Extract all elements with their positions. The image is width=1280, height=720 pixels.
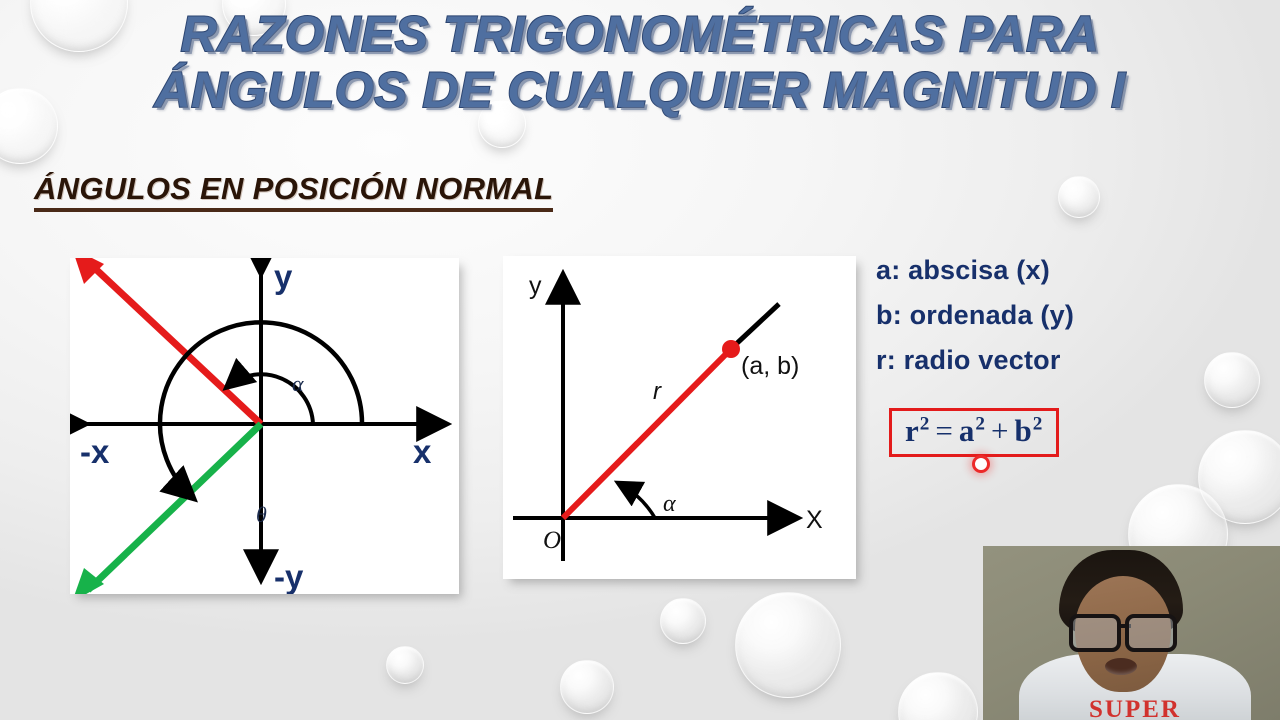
right-diagram-svg: (a, b) r α O y X bbox=[503, 256, 856, 579]
slide-title: RAZONES TRIGONOMÉTRICAS PARA ÁNGULOS DE … bbox=[0, 6, 1280, 118]
bubble-decoration bbox=[560, 660, 614, 714]
diagram-radius-vector: (a, b) r α O y X bbox=[503, 256, 856, 579]
legend-item-radio-vector: r: radio vector bbox=[876, 338, 1074, 383]
label-point-ab: (a, b) bbox=[741, 352, 799, 380]
cursor-pointer-dot bbox=[972, 455, 990, 473]
ray-extension bbox=[734, 304, 779, 346]
formula-a-exp: 2 bbox=[975, 414, 986, 435]
label-alpha: α bbox=[292, 371, 304, 396]
formula-r: r bbox=[905, 413, 920, 448]
glasses-icon bbox=[1067, 614, 1179, 644]
ray-theta bbox=[88, 424, 261, 590]
label-y-negative: -y bbox=[274, 558, 304, 594]
section-heading: ÁNGULOS EN POSICIÓN NORMAL bbox=[34, 171, 553, 212]
formula-plus: + bbox=[986, 413, 1014, 448]
legend-item-ordenada: b: ordenada (y) bbox=[876, 293, 1074, 338]
bubble-decoration bbox=[386, 646, 424, 684]
label-x-positive: x bbox=[413, 433, 432, 470]
label-x-axis: X bbox=[806, 506, 823, 534]
bubble-decoration bbox=[1198, 430, 1280, 524]
formula-b-exp: 2 bbox=[1033, 414, 1044, 435]
label-y-positive: y bbox=[274, 258, 293, 295]
glasses-lens-right bbox=[1125, 614, 1177, 652]
title-line-2: ÁNGULOS DE CUALQUIER MAGNITUD I bbox=[0, 62, 1280, 118]
formula-r-exp: 2 bbox=[920, 414, 931, 435]
label-x-negative: -x bbox=[80, 433, 110, 470]
glasses-lens-left bbox=[1069, 614, 1121, 652]
arc-alpha bbox=[620, 484, 655, 518]
slide-canvas: RAZONES TRIGONOMÉTRICAS PARA ÁNGULOS DE … bbox=[0, 0, 1280, 720]
shirt-text: SUPER bbox=[1019, 696, 1251, 720]
bubble-decoration bbox=[1204, 352, 1260, 408]
title-line-1: RAZONES TRIGONOMÉTRICAS PARA bbox=[0, 6, 1280, 62]
label-radius: r bbox=[653, 378, 662, 405]
label-alpha: α bbox=[663, 491, 676, 517]
formula-b: b bbox=[1014, 413, 1032, 448]
bubble-decoration bbox=[660, 598, 706, 644]
webcam-overlay[interactable]: SUPER bbox=[983, 546, 1280, 720]
bubble-decoration bbox=[1058, 176, 1100, 218]
pythagorean-formula: r2=a2+b2 bbox=[905, 413, 1043, 449]
label-theta: θ bbox=[256, 502, 267, 527]
point-ab-marker bbox=[722, 340, 740, 358]
bubble-decoration bbox=[735, 592, 841, 698]
diagram-angles-standard-position: α θ y -y x -x bbox=[70, 258, 459, 594]
radius-vector bbox=[563, 349, 731, 518]
formula-box: r2=a2+b2 bbox=[889, 408, 1059, 457]
ray-theta-arrowhead bbox=[72, 568, 104, 594]
ray-alpha bbox=[86, 260, 261, 424]
label-origin: O bbox=[543, 527, 561, 554]
label-y-axis: y bbox=[529, 272, 542, 300]
bubble-decoration bbox=[898, 672, 978, 720]
formula-equals: = bbox=[930, 413, 958, 448]
left-diagram-svg: α θ y -y x -x bbox=[70, 258, 459, 594]
legend-definitions: a: abscisa (x) b: ordenada (y) r: radio … bbox=[876, 248, 1074, 383]
formula-a: a bbox=[959, 413, 976, 448]
presenter-mouth bbox=[1105, 658, 1137, 675]
legend-item-abscisa: a: abscisa (x) bbox=[876, 248, 1074, 293]
